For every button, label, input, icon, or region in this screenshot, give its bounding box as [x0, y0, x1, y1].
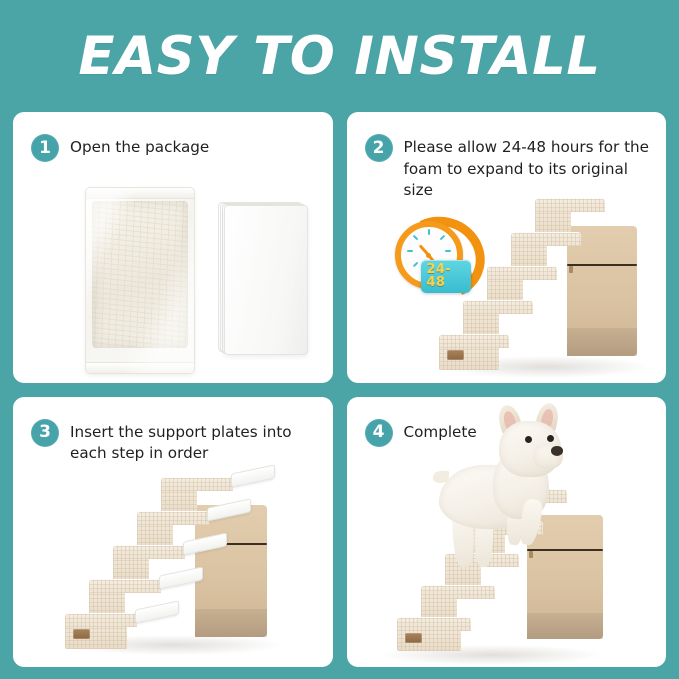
clock-tick	[412, 235, 418, 241]
stair-tread	[137, 511, 209, 525]
clock-tick	[407, 250, 413, 252]
step-number-badge: 4	[365, 419, 393, 447]
brand-tag	[73, 629, 90, 639]
step-1-label: Open the package	[70, 134, 209, 159]
step-number-badge: 3	[31, 419, 59, 447]
steps-grid: 1 Open the package	[13, 112, 666, 667]
vacuum-sealed-bag	[85, 187, 195, 374]
compressed-foam	[92, 201, 188, 348]
inserted-support-plate	[231, 464, 275, 487]
support-plate-stack	[218, 202, 304, 352]
step-card-1: 1 Open the package	[13, 112, 333, 383]
stair-tread	[463, 300, 533, 314]
pet-stairs	[439, 178, 649, 378]
stair-tread	[65, 613, 137, 627]
step-number-badge: 1	[31, 134, 59, 162]
step-card-4: 4 Complete	[347, 397, 667, 668]
stair-tread	[487, 266, 557, 280]
stair-tread	[161, 477, 233, 491]
step-2-label: Please allow 24-48 hours for the foam to…	[404, 134, 651, 202]
page-title: EASY TO INSTALL	[78, 30, 600, 83]
step-1-header: 1 Open the package	[31, 134, 317, 162]
brand-tag	[405, 633, 422, 643]
step-4-header: 4 Complete	[365, 419, 651, 447]
step-card-2: 24-48	[347, 112, 667, 383]
clock-pivot	[426, 253, 431, 258]
step-number-badge: 2	[365, 134, 393, 162]
clock-tick	[412, 262, 418, 268]
stair-tread	[421, 585, 495, 599]
stairs-side-shadow	[527, 613, 603, 639]
stair-tread	[89, 579, 161, 593]
stair-tread	[511, 232, 581, 246]
bag-seal-bottom	[86, 362, 194, 373]
stairs-side-shadow	[567, 328, 637, 356]
poster-header: EASY TO INSTALL	[0, 0, 679, 112]
support-plate	[224, 205, 308, 355]
stair-tread	[439, 334, 509, 348]
step-2-header: 2 Please allow 24-48 hours for the foam …	[365, 134, 651, 202]
inserted-support-plate	[135, 600, 179, 623]
step-3-label: Insert the support plates into each step…	[70, 419, 317, 465]
stair-tread	[397, 617, 471, 631]
step-card-3: 3 Insert the support plates into each st…	[13, 397, 333, 668]
stairs-side-shadow	[195, 609, 267, 637]
step-4-label: Complete	[404, 419, 477, 444]
instruction-poster: EASY TO INSTALL 1	[0, 0, 679, 679]
bag-seal-top	[86, 188, 194, 199]
step-3-header: 3 Insert the support plates into each st…	[31, 419, 317, 465]
zipper-pull	[569, 266, 573, 273]
dog-nose	[551, 446, 563, 456]
brand-tag	[447, 350, 464, 360]
zipper-line	[567, 264, 637, 266]
stair-tread	[113, 545, 185, 559]
pet-stairs	[61, 455, 281, 655]
clock-tick	[428, 229, 430, 235]
